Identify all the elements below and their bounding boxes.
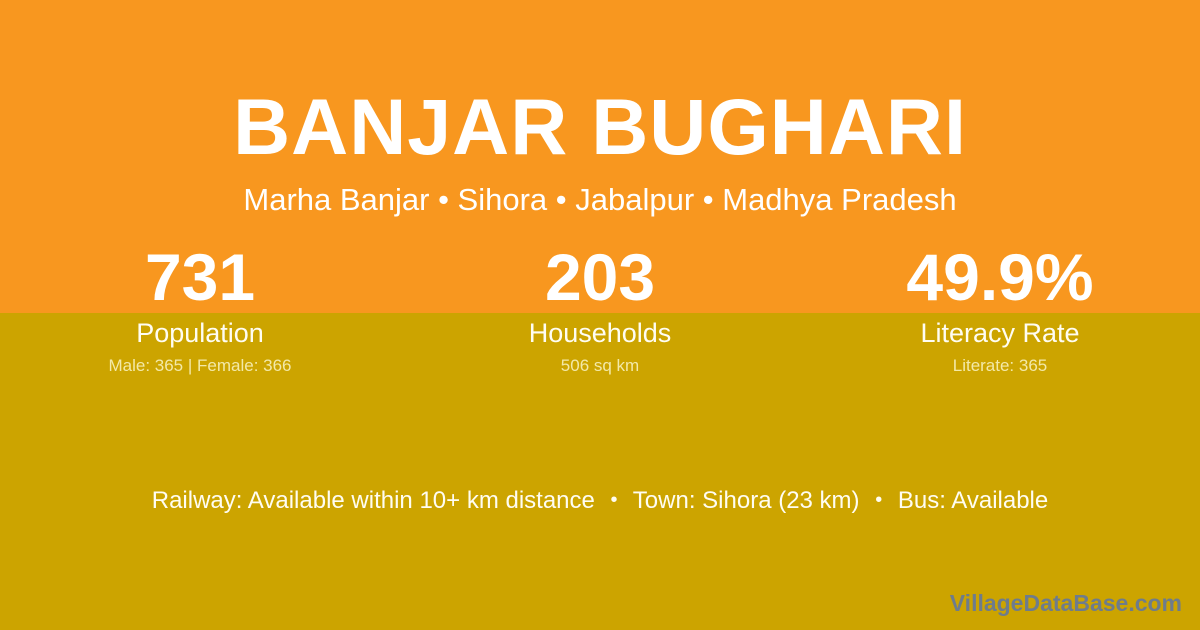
stat-sub: 506 sq km xyxy=(400,356,800,376)
stat-label: Households xyxy=(400,317,800,349)
stat-households: 203 Households 506 sq km xyxy=(400,243,800,376)
stats-row: 731 Population Male: 365 | Female: 366 2… xyxy=(0,243,1200,376)
bus-info: Bus: Available xyxy=(898,487,1048,514)
stat-value: 49.9% xyxy=(800,243,1200,311)
railway-info: Railway: Available within 10+ km distanc… xyxy=(152,487,595,514)
bullet-separator-icon: • xyxy=(602,484,627,516)
stat-value: 203 xyxy=(400,243,800,311)
stat-value: 731 xyxy=(0,243,400,311)
stat-sub: Male: 365 | Female: 366 xyxy=(0,356,400,376)
stat-population: 731 Population Male: 365 | Female: 366 xyxy=(0,243,400,376)
site-watermark: VillageDataBase.com xyxy=(950,588,1182,618)
town-info: Town: Sihora (23 km) xyxy=(633,487,860,514)
bullet-separator-icon: • xyxy=(866,484,891,516)
stat-literacy-rate: 49.9% Literacy Rate Literate: 365 xyxy=(800,243,1200,376)
stat-label: Population xyxy=(0,317,400,349)
page-title: BANJAR BUGHARI xyxy=(0,82,1200,172)
village-info-card: BANJAR BUGHARI Marha Banjar • Sihora • J… xyxy=(0,0,1200,630)
location-breadcrumb: Marha Banjar • Sihora • Jabalpur • Madhy… xyxy=(0,180,1200,220)
stat-sub: Literate: 365 xyxy=(800,356,1200,376)
transport-info-line: Railway: Available within 10+ km distanc… xyxy=(0,484,1200,517)
stat-label: Literacy Rate xyxy=(800,317,1200,349)
